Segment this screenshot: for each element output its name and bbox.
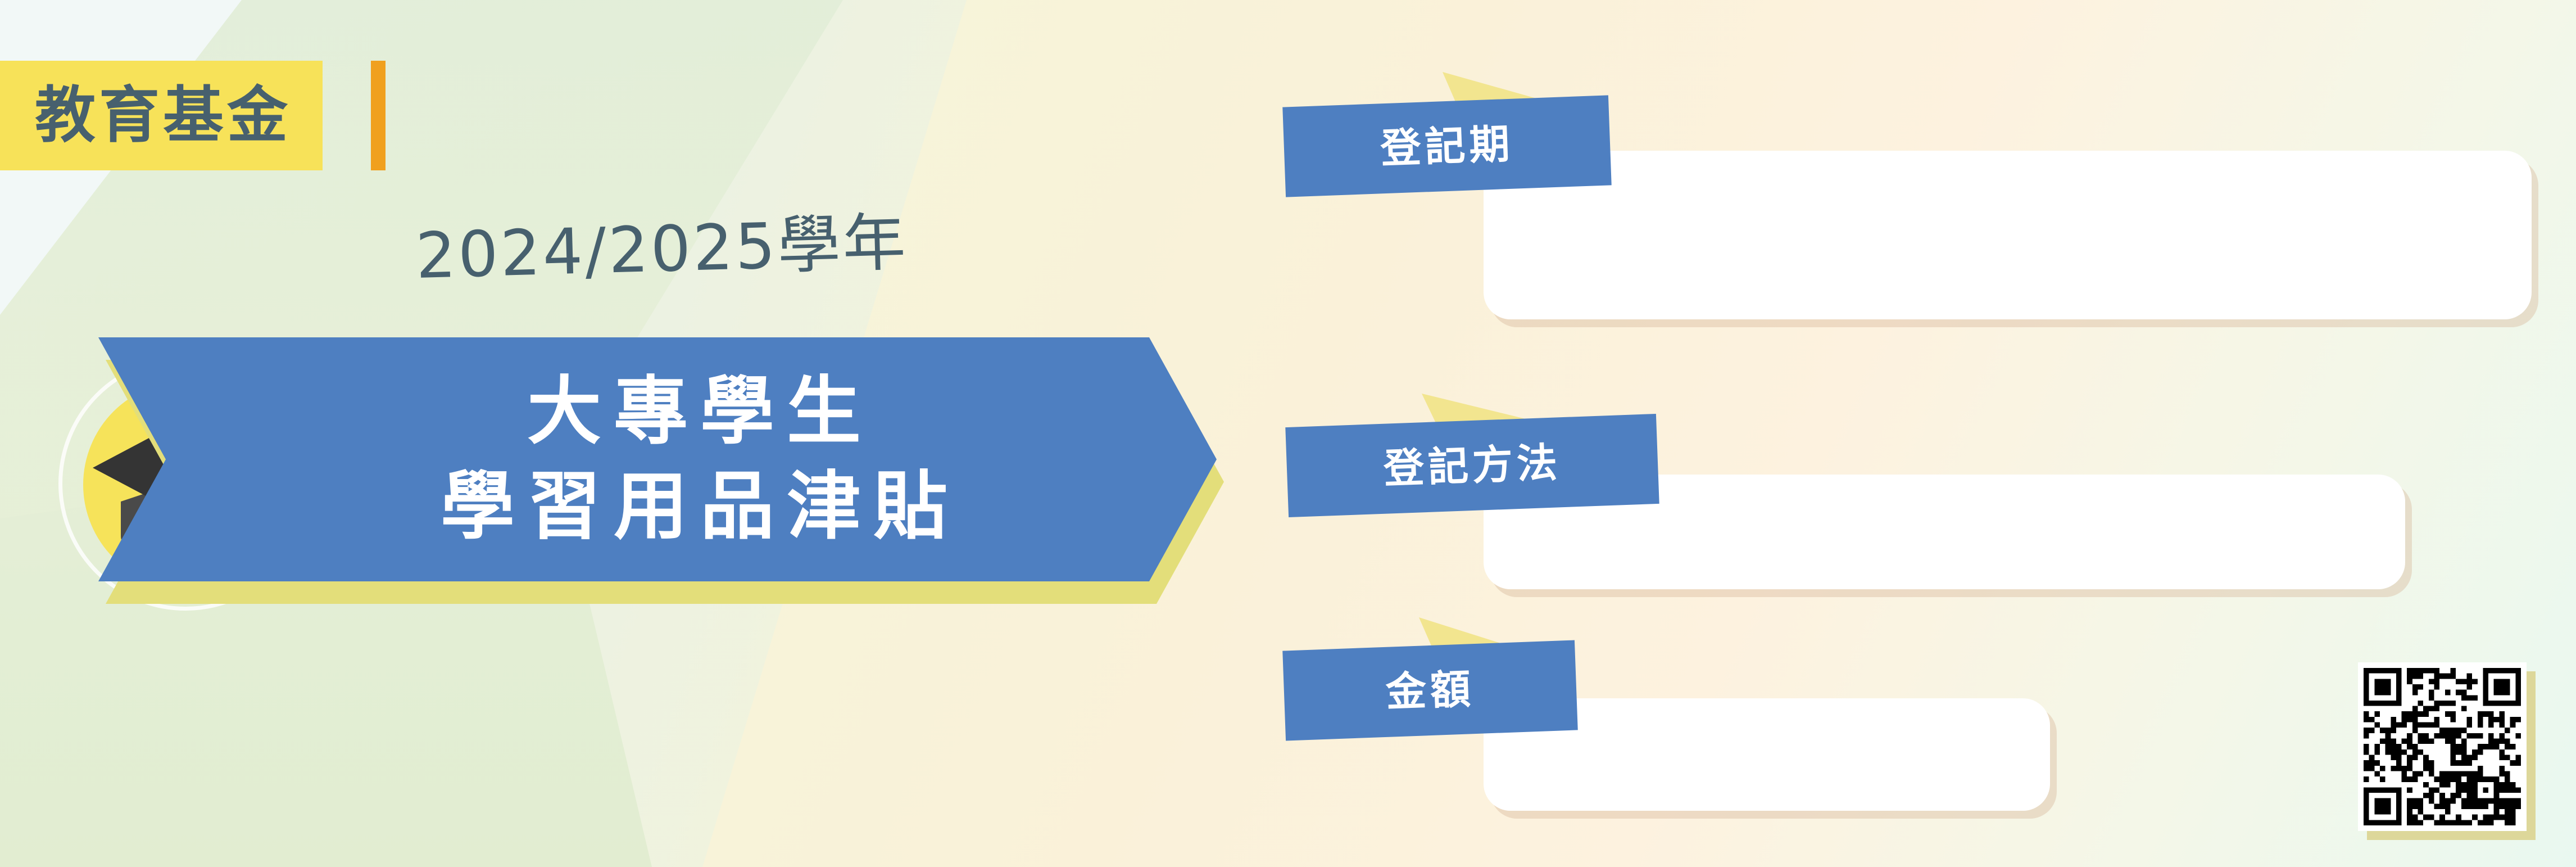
qr-code-canvas [2364, 668, 2521, 825]
ribbon-registration-method: 登記方法 [1285, 414, 1659, 517]
education-fund-badge-accent-bar [371, 61, 386, 170]
education-fund-badge-label: 教育基金 [35, 85, 291, 146]
qr-code[interactable] [2358, 662, 2527, 831]
ribbon-label-3: 金額 [1385, 669, 1476, 712]
title-banner-text: 大專學生 學習用品津貼 [98, 337, 1217, 581]
title-line-1: 大專學生 [515, 364, 873, 459]
info-card-1 [1484, 151, 2532, 319]
qr-code-wrapper[interactable] [2358, 662, 2527, 831]
education-fund-banner: 教育基金 2024/2025學年 大專學生 學習用品津貼 登記期 [0, 0, 2576, 867]
ribbon-label-1: 登記期 [1380, 124, 1514, 169]
education-fund-badge: 教育基金 [0, 61, 323, 170]
academic-year-label: 2024/2025學年 [415, 211, 909, 288]
ribbon-label-2: 登記方法 [1383, 442, 1562, 489]
ribbon-amount: 金額 [1282, 640, 1578, 741]
ribbon-registration-period: 登記期 [1282, 95, 1611, 197]
title-line-2: 學習用品津貼 [428, 459, 960, 554]
